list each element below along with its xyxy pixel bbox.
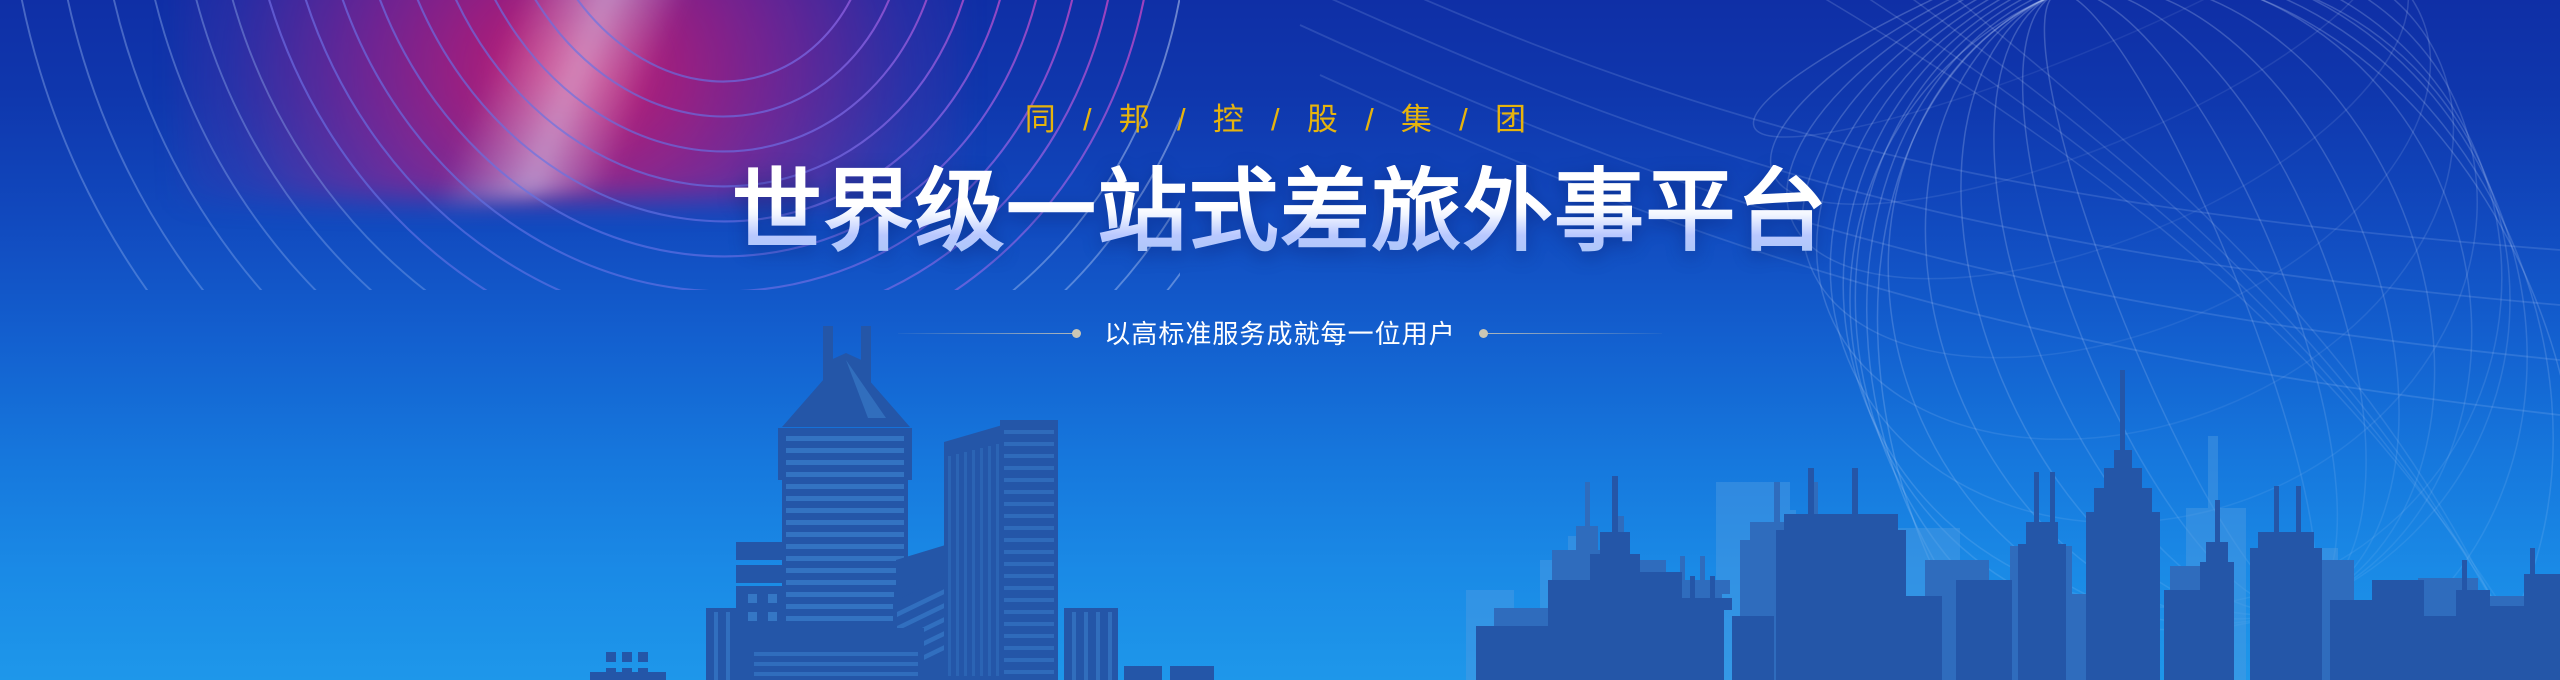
rule-dot-left xyxy=(1072,329,1081,338)
page-title: 世界级一站式差旅外事平台 xyxy=(0,165,2560,260)
skyline-left-cluster xyxy=(590,326,1214,680)
divider-rule-right xyxy=(1482,333,1662,334)
rule-dot-right xyxy=(1479,329,1488,338)
page-subtitle: 以高标准服务成就每一位用户 xyxy=(1104,321,1456,347)
brand-eyebrow: 同 / 邦 / 控 / 股 / 集 / 团 xyxy=(0,104,2560,135)
divider-rule-left xyxy=(898,333,1078,334)
subtitle-row: 以高标准服务成就每一位用户 xyxy=(0,321,2560,347)
skyline-front-layer-right xyxy=(1476,370,2560,680)
banner-content: 同 / 邦 / 控 / 股 / 集 / 团 世界级一站式差旅外事平台 以高标准服… xyxy=(0,104,2560,347)
hero-banner: 同 / 邦 / 控 / 股 / 集 / 团 世界级一站式差旅外事平台 以高标准服… xyxy=(0,0,2560,680)
